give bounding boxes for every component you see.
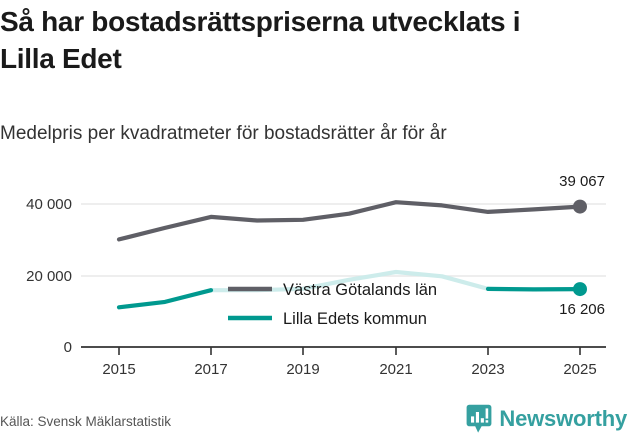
page-title: Så har bostadsrättspriserna utvecklats i… [0, 4, 625, 78]
endpoint-marker-lilla-edets-kommun [573, 282, 587, 296]
bar-1 [471, 416, 474, 422]
bar-3 [481, 418, 484, 422]
source-note: Källa: Svensk Mäklarstatistik [0, 414, 171, 429]
legend-label-lilla-edets-kommun: Lilla Edets kommun [283, 310, 427, 328]
bar-2 [476, 412, 479, 423]
brand-name: Newsworthy [499, 408, 627, 430]
series-line-lilla-edets-kommun-right [488, 289, 580, 290]
brand-logo: Newsworthy [466, 404, 627, 434]
x-tick-label-2015: 2015 [102, 361, 135, 378]
x-tick-label-2019: 2019 [286, 361, 319, 378]
bar-4 [486, 408, 489, 418]
series-line-vastra-gotalands-lan [119, 202, 580, 239]
x-axis [81, 347, 606, 355]
legend-label-vastra-gotalands-lan: Västra Götalands län [283, 281, 437, 299]
y-tick-label-0: 0 [64, 339, 72, 356]
chart-svg: 40 000 20 000 0 2015 2017 2019 2021 2023 [0, 168, 631, 388]
chart-legend: Västra Götalands län Lilla Edets kommun [228, 281, 437, 328]
bar-4-dot [486, 420, 489, 422]
line-chart: 40 000 20 000 0 2015 2017 2019 2021 2023 [0, 168, 631, 388]
page-subtitle: Medelpris per kvadratmeter för bostadsrä… [0, 122, 620, 147]
value-label-vastra-gotalands-lan: 39 067 [559, 173, 605, 190]
x-tick-label-2025: 2025 [563, 361, 596, 378]
x-tick-label-2017: 2017 [194, 361, 227, 378]
x-axis-labels: 2015 2017 2019 2021 2023 2025 [102, 361, 596, 378]
value-label-lilla-edets-kommun: 16 206 [559, 301, 605, 318]
y-tick-label-40000: 40 000 [26, 196, 72, 213]
series-line-lilla-edets-kommun [119, 290, 211, 307]
x-tick-label-2021: 2021 [379, 361, 412, 378]
x-tick-label-2023: 2023 [471, 361, 504, 378]
chart-page: Så har bostadsrättspriserna utvecklats i… [0, 0, 631, 439]
newsworthy-bar-chart-bubble-icon [466, 404, 492, 434]
y-axis-labels: 40 000 20 000 0 [26, 196, 72, 356]
y-tick-label-20000: 20 000 [26, 268, 72, 285]
endpoint-marker-vastra-gotalands-lan [573, 200, 587, 214]
